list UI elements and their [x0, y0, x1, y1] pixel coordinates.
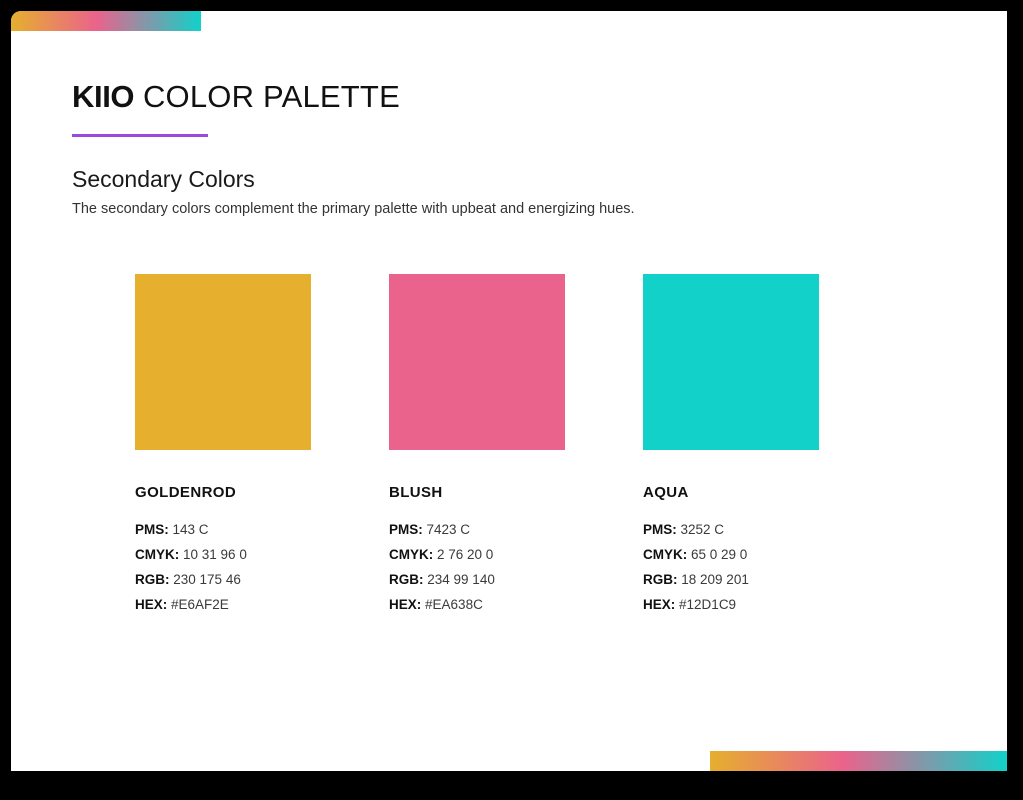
- spec-value-cmyk: 2 76 20 0: [437, 547, 493, 562]
- spec-label-rgb: RGB:: [389, 572, 424, 587]
- section-heading: Secondary Colors: [72, 166, 255, 193]
- section-description: The secondary colors complement the prim…: [72, 201, 635, 217]
- top-gradient-bar: [11, 11, 201, 31]
- color-chip-aqua: [643, 274, 819, 450]
- color-chip-blush: [389, 274, 565, 450]
- spec-row-cmyk: CMYK: 2 76 20 0: [389, 542, 565, 567]
- swatch-grid: GOLDENROD PMS: 143 C CMYK: 10 31 96 0 RG…: [135, 274, 955, 617]
- page-title: KIIO COLOR PALETTE: [72, 79, 400, 115]
- color-chip-goldenrod: [135, 274, 311, 450]
- spec-row-cmyk: CMYK: 65 0 29 0: [643, 542, 819, 567]
- spec-label-pms: PMS:: [135, 522, 169, 537]
- spec-row-pms: PMS: 143 C: [135, 517, 311, 542]
- spec-value-rgb: 18 209 201: [681, 572, 749, 587]
- swatch-card: BLUSH PMS: 7423 C CMYK: 2 76 20 0 RGB: 2…: [389, 274, 565, 617]
- spec-label-pms: PMS:: [389, 522, 423, 537]
- swatch-name: BLUSH: [389, 484, 565, 501]
- swatch-card: GOLDENROD PMS: 143 C CMYK: 10 31 96 0 RG…: [135, 274, 311, 617]
- spec-row-rgb: RGB: 234 99 140: [389, 567, 565, 592]
- title-accent-rule: [72, 134, 208, 137]
- swatch-name: GOLDENROD: [135, 484, 311, 501]
- spec-label-rgb: RGB:: [643, 572, 678, 587]
- spec-label-cmyk: CMYK:: [389, 547, 433, 562]
- spec-row-rgb: RGB: 18 209 201: [643, 567, 819, 592]
- bottom-gradient-bar: [710, 751, 1007, 771]
- brand-name: KIIO: [72, 79, 134, 114]
- spec-value-rgb: 230 175 46: [173, 572, 241, 587]
- swatch-spec-list: PMS: 143 C CMYK: 10 31 96 0 RGB: 230 175…: [135, 517, 311, 617]
- page-frame: KIIO COLOR PALETTE Secondary Colors The …: [0, 0, 1023, 800]
- page-title-text: COLOR PALETTE: [143, 79, 400, 114]
- swatch-name: AQUA: [643, 484, 819, 501]
- spec-value-cmyk: 65 0 29 0: [691, 547, 747, 562]
- spec-value-pms: 3252 C: [681, 522, 725, 537]
- spec-row-hex: HEX: #12D1C9: [643, 592, 819, 617]
- swatch-spec-list: PMS: 3252 C CMYK: 65 0 29 0 RGB: 18 209 …: [643, 517, 819, 617]
- spec-value-rgb: 234 99 140: [427, 572, 495, 587]
- title-suffix-space: [134, 79, 143, 114]
- spec-value-pms: 7423 C: [427, 522, 471, 537]
- spec-label-cmyk: CMYK:: [135, 547, 179, 562]
- spec-row-hex: HEX: #EA638C: [389, 592, 565, 617]
- spec-value-hex: #12D1C9: [679, 597, 736, 612]
- swatch-spec-list: PMS: 7423 C CMYK: 2 76 20 0 RGB: 234 99 …: [389, 517, 565, 617]
- spec-label-hex: HEX:: [643, 597, 675, 612]
- document-page: KIIO COLOR PALETTE Secondary Colors The …: [11, 11, 1007, 771]
- spec-row-pms: PMS: 3252 C: [643, 517, 819, 542]
- spec-value-hex: #EA638C: [425, 597, 483, 612]
- spec-label-hex: HEX:: [135, 597, 167, 612]
- spec-value-pms: 143 C: [173, 522, 209, 537]
- spec-row-hex: HEX: #E6AF2E: [135, 592, 311, 617]
- swatch-card: AQUA PMS: 3252 C CMYK: 65 0 29 0 RGB: 18…: [643, 274, 819, 617]
- spec-label-cmyk: CMYK:: [643, 547, 687, 562]
- spec-label-pms: PMS:: [643, 522, 677, 537]
- spec-value-cmyk: 10 31 96 0: [183, 547, 247, 562]
- spec-label-hex: HEX:: [389, 597, 421, 612]
- spec-value-hex: #E6AF2E: [171, 597, 229, 612]
- spec-row-cmyk: CMYK: 10 31 96 0: [135, 542, 311, 567]
- spec-label-rgb: RGB:: [135, 572, 170, 587]
- spec-row-pms: PMS: 7423 C: [389, 517, 565, 542]
- spec-row-rgb: RGB: 230 175 46: [135, 567, 311, 592]
